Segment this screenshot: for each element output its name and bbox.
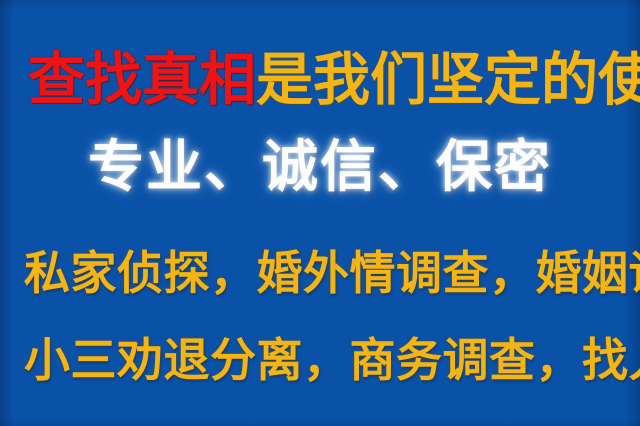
services-text-line-2: 小三劝退分离，商务调查，找人寻人 [24,337,640,383]
advertisement-banner: 查找真相是我们坚定的使命 专业、诚信、保密 私家侦探，婚外情调查，婚姻调查， 小… [0,0,640,426]
services-text-line-1: 私家侦探，婚外情调查，婚姻调查， [24,250,640,296]
headline-text: 查找真相是我们坚定的使命 [28,52,640,109]
headline-body-segment: 是我们坚定的使命 [256,47,640,113]
headline-highlight-segment: 查找真相 [28,47,256,113]
slogan-text: 专业、诚信、保密 [0,140,640,196]
